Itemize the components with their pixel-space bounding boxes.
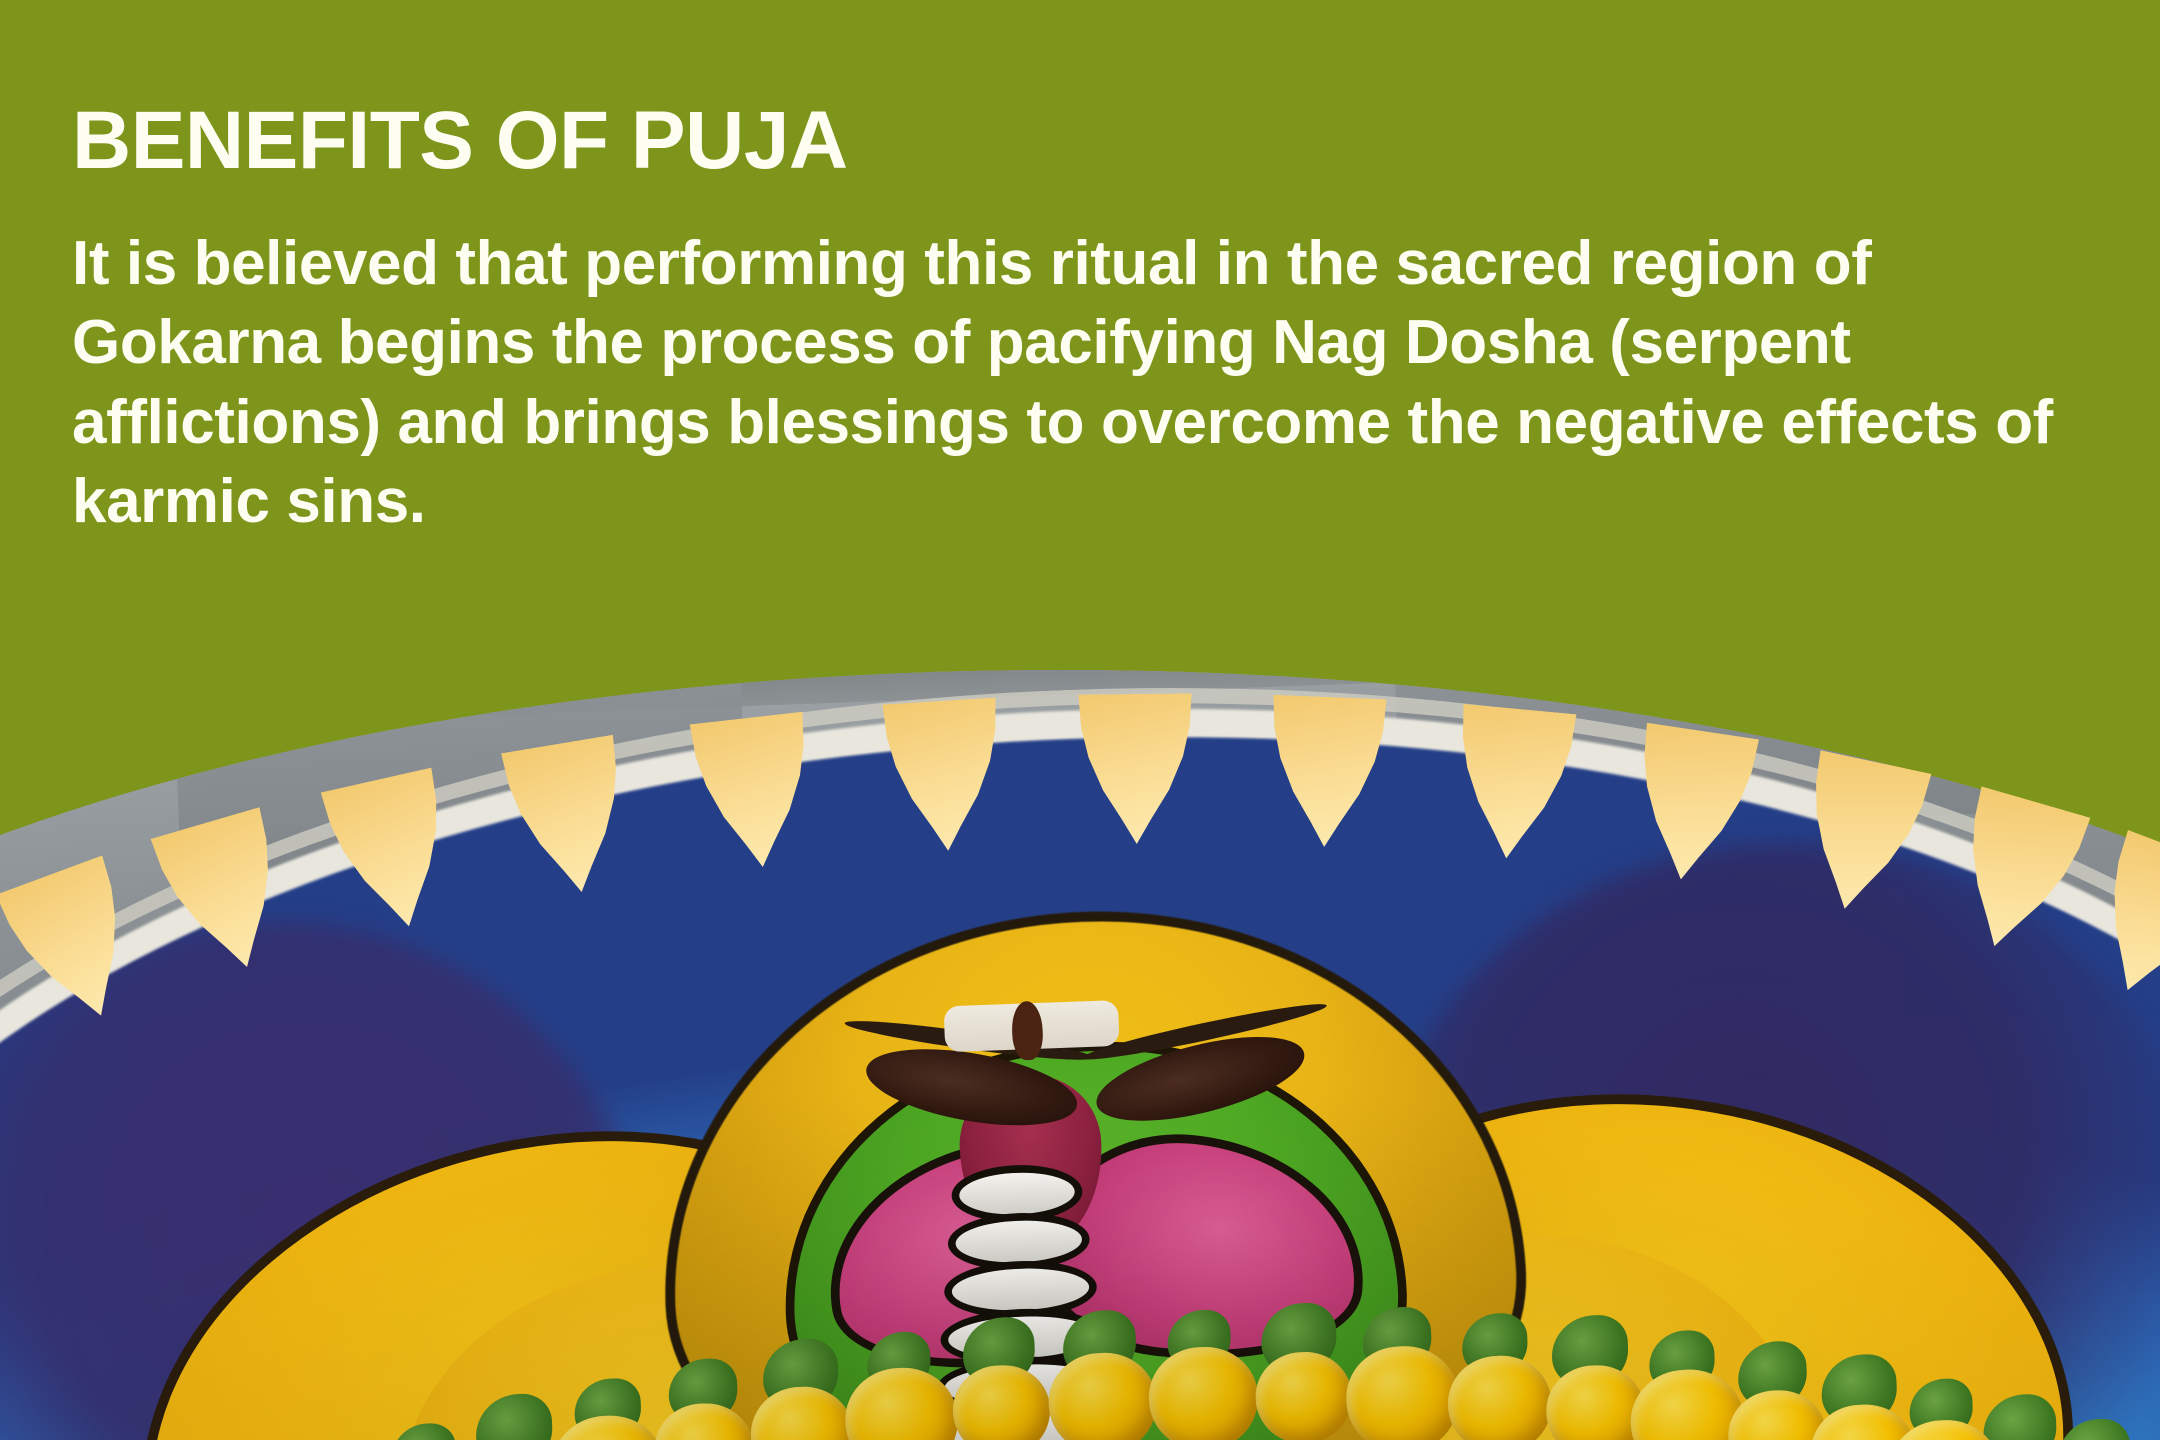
tulsi-leaf [1983, 1394, 2058, 1440]
marigold-flower [652, 1402, 755, 1440]
marigold-flower [1446, 1354, 1553, 1440]
text-block: BENEFITS OF PUJA It is believed that per… [72, 100, 2092, 541]
poster-canvas: BENEFITS OF PUJA It is believed that per… [0, 0, 2160, 1440]
tulsi-leaf [391, 1423, 458, 1440]
marigold-flower [1726, 1388, 1828, 1440]
marigold-flower [550, 1414, 667, 1440]
marigold-flower [952, 1364, 1052, 1440]
benefits-paragraph: It is believed that performing this ritu… [72, 224, 2082, 541]
tulsi-leaf [475, 1393, 554, 1440]
marigold-flower [843, 1366, 959, 1440]
tulsi-leaf [2057, 1418, 2131, 1440]
marigold-flower [1254, 1351, 1353, 1440]
marigold-flower [1345, 1345, 1461, 1440]
marigold-flower [1047, 1351, 1158, 1440]
marigold-garland [0, 672, 2160, 1440]
marigold-flower [749, 1385, 855, 1440]
page-title: BENEFITS OF PUJA [72, 100, 2092, 182]
marigold-flower [1147, 1346, 1260, 1440]
